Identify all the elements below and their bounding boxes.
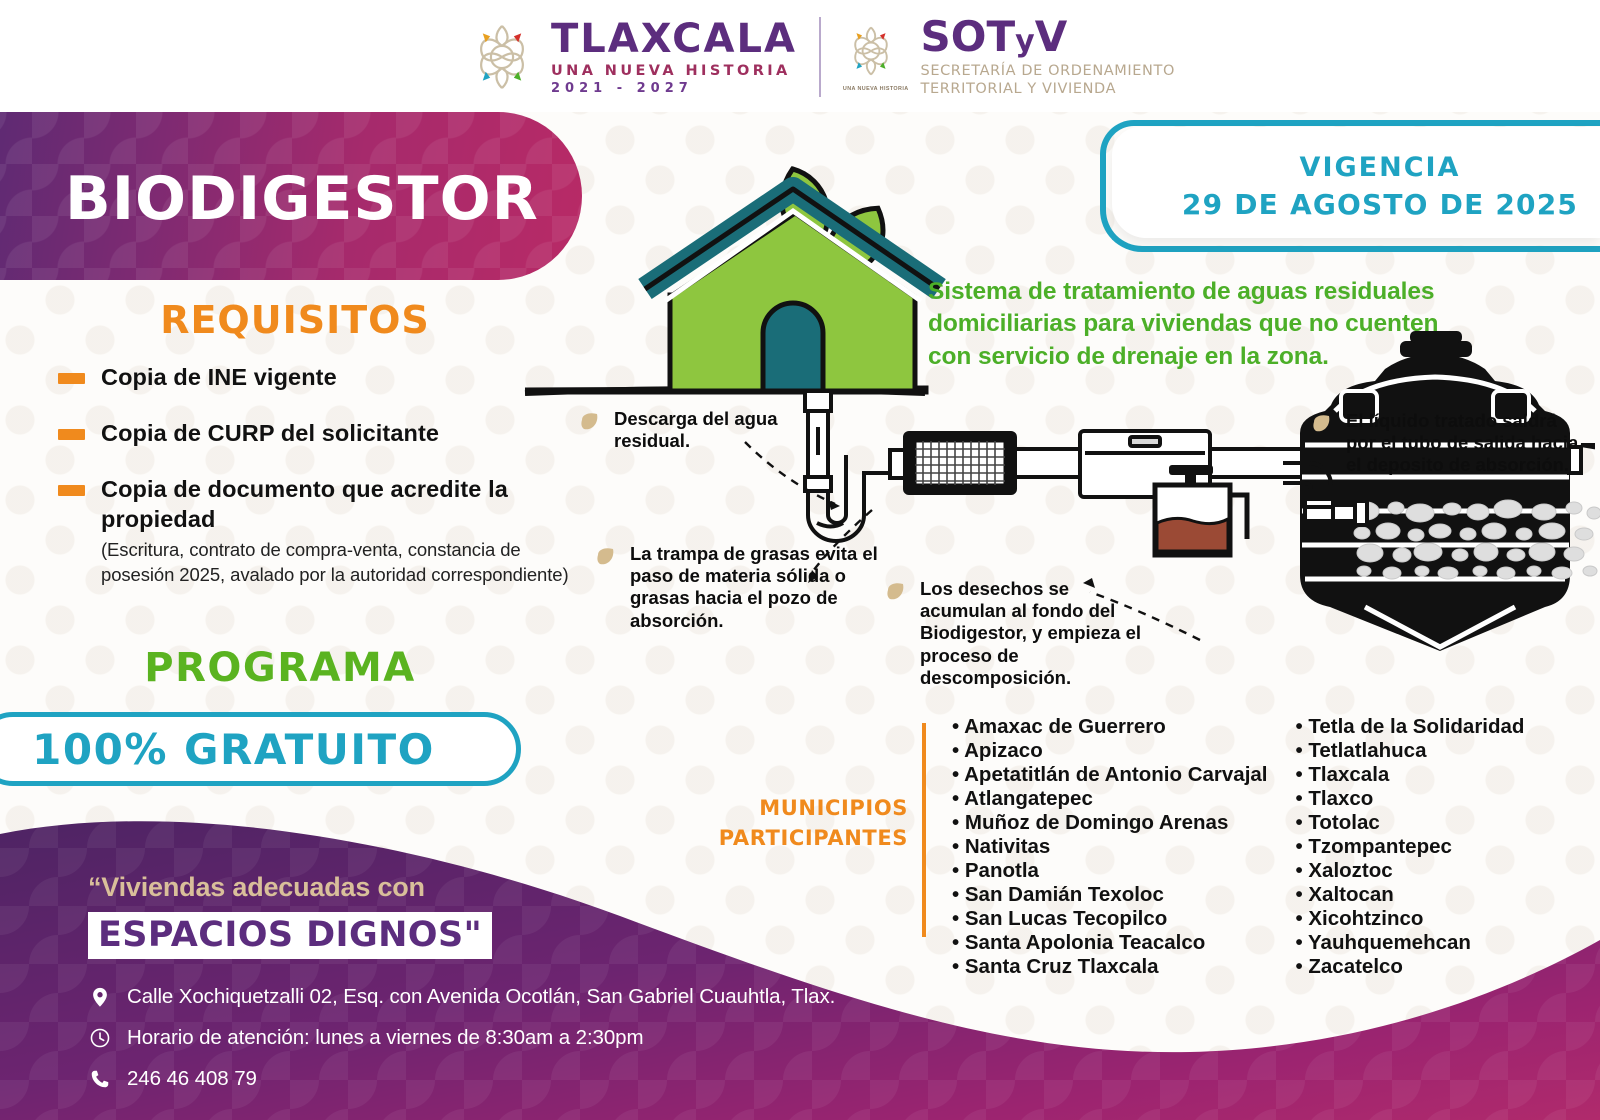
programa-heading: PROGRAMA <box>0 645 560 691</box>
requisito-text: Copia de INE vigente <box>101 362 337 392</box>
location-pin-icon <box>88 985 112 1009</box>
requisito-item: Copia de INE vigente <box>58 362 580 392</box>
vigencia-text: VIGENCIA 29 DE AGOSTO DE 2025 <box>1100 120 1600 252</box>
footer-section: “Viviendas adecuadas con ESPACIOS DIGNOS… <box>0 830 900 1120</box>
grease-trap-icon <box>890 433 1015 493</box>
leaf-bullet-icon <box>578 411 602 435</box>
sotyv-subtitle-line1: SECRETARÍA DE ORDENAMIENTO <box>921 62 1175 80</box>
sotyv-acronym: SOTyV <box>921 16 1175 58</box>
sotyv-subtitle-line2: TERRITORIAL Y VIVIENDA <box>921 80 1175 98</box>
requisitos-section: REQUISITOS Copia de INE vigente Copia de… <box>0 298 580 614</box>
list-item: Amaxac de Guerrero <box>952 715 1268 739</box>
vigencia-label: VIGENCIA <box>1300 152 1461 183</box>
dash-bullet-icon <box>58 429 85 440</box>
phone-icon <box>88 1067 112 1091</box>
requisito-item: Copia de CURP del solicitante <box>58 418 580 448</box>
tlaxcala-wordmark: TLAXCALA UNA NUEVA HISTORIA 2021 - 2027 <box>551 19 797 95</box>
requisito-text: Copia de CURP del solicitante <box>101 418 439 448</box>
requisito-note: (Escritura, contrato de compra-venta, co… <box>101 538 580 588</box>
vigencia-date: 29 DE AGOSTO DE 2025 <box>1182 188 1578 221</box>
tlaxcala-name: TLAXCALA <box>551 19 797 59</box>
gratuito-label: 100% GRATUITO <box>32 725 465 774</box>
gratuito-badge: 100% GRATUITO <box>0 712 521 786</box>
list-item: Tetla de la Solidaridad <box>1296 715 1525 739</box>
requisitos-list: Copia de INE vigente Copia de CURP del s… <box>0 362 580 588</box>
sotyv-subtitle: SECRETARÍA DE ORDENAMIENTO TERRITORIAL Y… <box>921 62 1175 98</box>
logo-divider <box>819 17 821 97</box>
logo-group: TLAXCALA UNA NUEVA HISTORIA 2021 - 2027 <box>465 16 1175 98</box>
vigencia-badge: VIGENCIA 29 DE AGOSTO DE 2025 <box>1100 120 1600 252</box>
callout-text: Los desechos se acumulan al fondo del Bi… <box>920 578 1144 689</box>
list-item: Apizaco <box>952 739 1268 763</box>
list-item: Apetatitlán de Antonio Carvajal <box>952 763 1268 787</box>
leaf-bullet-icon <box>1310 413 1334 437</box>
header-bar: TLAXCALA UNA NUEVA HISTORIA 2021 - 2027 <box>0 0 1600 112</box>
sotyv-logo: UNA NUEVA HISTORIA SOTyV SECRETARÍA DE O… <box>843 16 1175 98</box>
tlaxcala-years: 2021 - 2027 <box>551 82 797 95</box>
callout-liquido: El líquido tratado saldrá por el tubo de… <box>1310 410 1580 477</box>
clock-icon <box>88 1026 112 1050</box>
callout-desechos: Los desechos se acumulan al fondo del Bi… <box>884 578 1144 689</box>
footer-quote-line1: “Viviendas adecuadas con <box>88 872 900 903</box>
dash-bullet-icon <box>58 485 85 496</box>
house-icon <box>645 189 939 391</box>
page-title: BIODIGESTOR <box>0 112 582 234</box>
tlaxcala-logo: TLAXCALA UNA NUEVA HISTORIA 2021 - 2027 <box>465 19 797 95</box>
contact-address-row: Calle Xochiquetzalli 02, Esq. con Avenid… <box>88 985 900 1009</box>
sotyv-flower-caption: UNA NUEVA HISTORIA <box>843 86 909 92</box>
leaf-bullet-icon <box>884 581 908 605</box>
contact-phone: 246 46 408 79 <box>127 1067 257 1091</box>
callout-trampa: La trampa de grasas evita el paso de mat… <box>594 543 884 632</box>
contact-block: Calle Xochiquetzalli 02, Esq. con Avenid… <box>88 985 900 1091</box>
requisito-item: Copia de documento que acredite la propi… <box>58 474 580 588</box>
program-description: Sistema de tratamiento de aguas residual… <box>928 276 1488 373</box>
sotyv-wordmark: SOTyV SECRETARÍA DE ORDENAMIENTO TERRITO… <box>921 16 1175 98</box>
title-banner: BIODIGESTOR <box>0 112 582 280</box>
contact-phone-row: 246 46 408 79 <box>88 1067 900 1091</box>
tlaxcala-tagline: UNA NUEVA HISTORIA <box>551 64 797 79</box>
footer-quote-line2: ESPACIOS DIGNOS" <box>88 912 492 959</box>
sotyv-flower-icon <box>843 22 899 80</box>
list-item: Tlaxcala <box>1296 763 1525 787</box>
contact-hours: Horario de atención: lunes a viernes de … <box>127 1026 643 1050</box>
list-item: Tetlatlahuca <box>1296 739 1525 763</box>
tlaxcala-flower-icon <box>465 19 539 95</box>
callout-text: La trampa de grasas evita el paso de mat… <box>630 543 884 632</box>
callout-text: El líquido tratado saldrá por el tubo de… <box>1346 410 1580 477</box>
callout-text: Descarga del agua residual. <box>614 408 828 452</box>
callout-descarga: Descarga del agua residual. <box>578 408 828 452</box>
leaf-bullet-icon <box>594 546 618 570</box>
dash-bullet-icon <box>58 373 85 384</box>
requisito-text: Copia de documento que acredite la propi… <box>101 474 580 534</box>
poster-root: TLAXCALA UNA NUEVA HISTORIA 2021 - 2027 <box>0 0 1600 1120</box>
contact-hours-row: Horario de atención: lunes a viernes de … <box>88 1026 900 1050</box>
requisitos-heading: REQUISITOS <box>0 298 580 342</box>
contact-address: Calle Xochiquetzalli 02, Esq. con Avenid… <box>127 985 835 1009</box>
